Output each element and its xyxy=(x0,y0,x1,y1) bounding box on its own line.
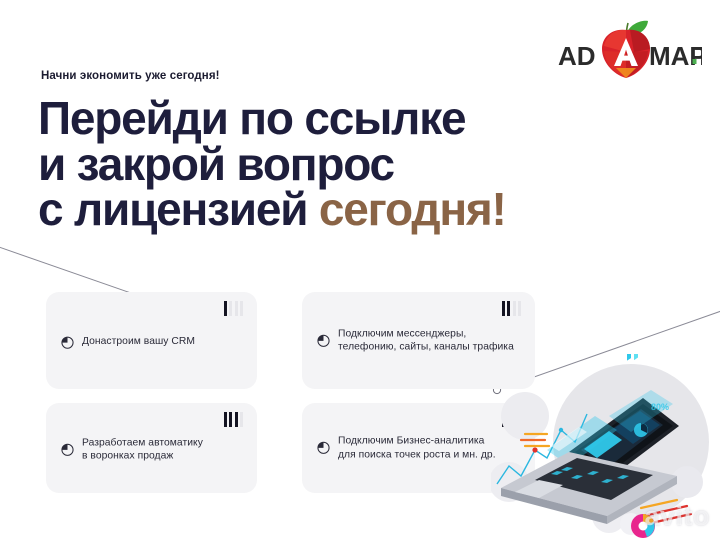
feature-card-content: Разработаем автоматику в воронках продаж xyxy=(61,436,245,463)
level-bar-2 xyxy=(507,301,510,316)
level-bar-3 xyxy=(235,301,238,316)
laptop-analytics-icon: 80% xyxy=(491,354,720,544)
level-bar-1 xyxy=(224,301,227,316)
feature-card-label: Донастроим вашу CRM xyxy=(82,336,195,350)
level-bar-3 xyxy=(513,301,516,316)
level-bar-3 xyxy=(235,412,238,427)
feature-card-label-line-1: Подключим Бизнес-аналитика xyxy=(338,435,484,446)
level-bar-1 xyxy=(224,412,227,427)
poster-canvas: AD MAP T Начни экономить уже сегодня! Пе… xyxy=(0,0,720,540)
headline-accent: сегодня! xyxy=(319,183,506,235)
brand-logo[interactable]: AD MAP T xyxy=(552,18,702,80)
level-bar-1 xyxy=(502,301,505,316)
illustration-badge: 80% xyxy=(651,402,669,412)
headline-line-3-plain: с лицензией xyxy=(38,183,319,235)
level-bar-4 xyxy=(240,301,243,316)
level-bar-4 xyxy=(240,412,243,427)
headline-line-1: Перейди по ссылке xyxy=(38,96,688,142)
feature-card-label-line-1: Разработаем автоматику xyxy=(82,437,203,448)
laptop-analytics-illustration: 80% xyxy=(491,354,720,544)
level-indicator-automation xyxy=(224,412,244,427)
logo-text-t: T xyxy=(695,41,702,71)
pie-chart-icon xyxy=(317,334,330,347)
brand-logo-icon: AD MAP T xyxy=(552,18,702,80)
tagline: Начни экономить уже сегодня! xyxy=(41,70,220,82)
pie-chart-icon xyxy=(317,442,330,455)
level-indicator-messengers xyxy=(502,301,522,316)
feature-card-label-line-2: в воронках продаж xyxy=(82,451,173,462)
feature-card-label: Разработаем автоматику в воронках продаж xyxy=(82,436,203,463)
headline-line-3: с лицензией сегодня! xyxy=(38,187,688,233)
feature-card-label-line-2: для поиска точек роста и мн. др. xyxy=(338,449,496,460)
feature-card-content: Донастроим вашу CRM xyxy=(61,336,245,350)
feature-card-label-line-1: Подключим мессенджеры, xyxy=(338,328,466,339)
page-title: Перейди по ссылке и закрой вопрос с лице… xyxy=(38,96,688,233)
pie-chart-icon xyxy=(61,336,74,349)
level-bar-2 xyxy=(229,412,232,427)
level-bar-4 xyxy=(518,301,521,316)
feature-card-automation[interactable]: Разработаем автоматику в воронках продаж xyxy=(46,403,257,493)
feature-card-crm[interactable]: Донастроим вашу CRM xyxy=(46,292,257,389)
headline-line-2: и закрой вопрос xyxy=(38,142,688,188)
feature-card-label-line-2: телефонию, сайты, каналы трафика xyxy=(338,342,514,353)
pie-chart-icon xyxy=(61,443,74,456)
decor-circle-small-1 xyxy=(501,392,549,440)
feature-card-content: Подключим мессенджеры, телефонию, сайты,… xyxy=(317,327,523,354)
level-bar-2 xyxy=(229,301,232,316)
feature-card-label: Подключим мессенджеры, телефонию, сайты,… xyxy=(338,327,514,354)
logo-text-ad: AD xyxy=(558,41,596,71)
level-indicator-crm xyxy=(224,301,244,316)
feature-card-label: Подключим Бизнес-аналитика для поиска то… xyxy=(338,434,496,461)
